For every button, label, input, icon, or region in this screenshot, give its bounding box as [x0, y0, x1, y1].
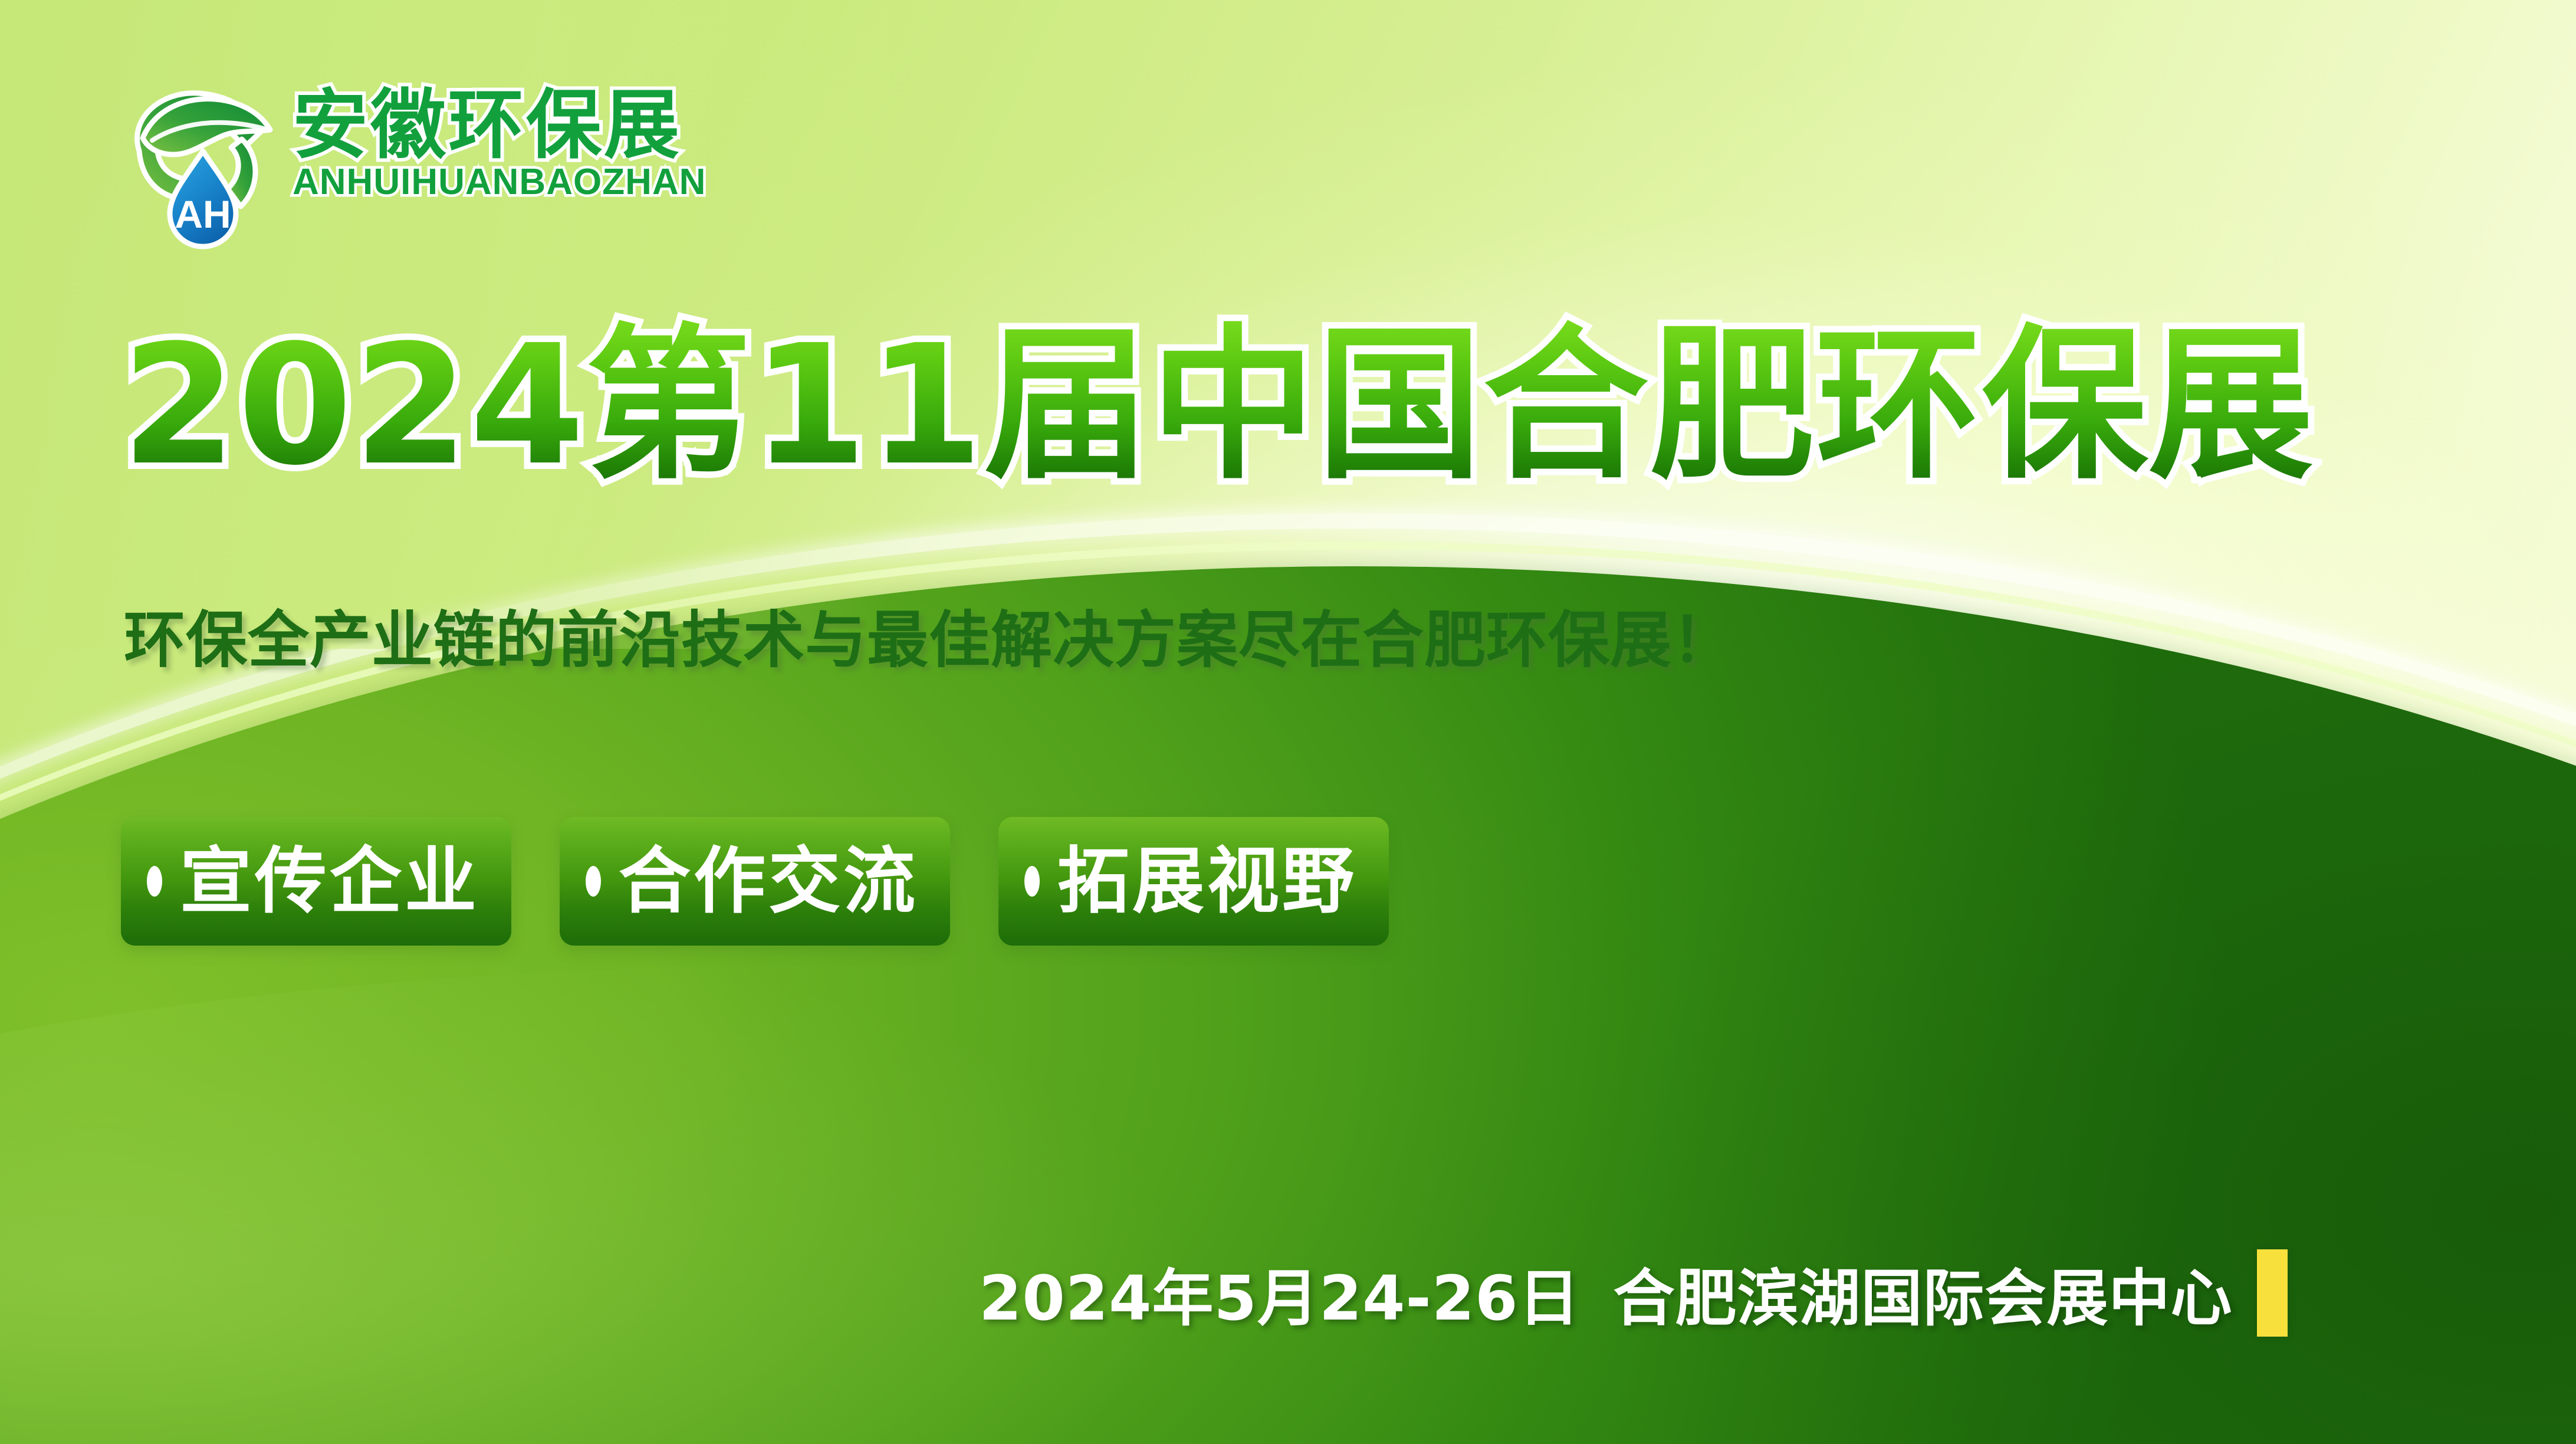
logo-chinese-name: 安徽环保展 — [293, 87, 646, 165]
tag-expand-vision[interactable]: 拓展视野 — [998, 817, 1389, 946]
main-title-text: 2024第11届中国合肥环保展 — [121, 310, 2315, 502]
event-venue: 合肥滨湖国际会展中心 — [1613, 1248, 2232, 1337]
event-date: 2024年5月24-26日 — [979, 1248, 1580, 1337]
tag-promote-enterprise[interactable]: 宣传企业 — [121, 817, 511, 946]
exhibition-banner: AH 安徽环保展 ANHUIHUANBAOZHAN 2024第11届中国合肥环保… — [0, 0, 2576, 1444]
brand-logo[interactable]: AH 安徽环保展 ANHUIHUANBAOZHAN — [116, 81, 587, 258]
subtitle-text: 环保全产业链的前沿技术与最佳解决方案尽在合肥环保展！ — [124, 590, 1734, 679]
highlight-tag-list: 宣传企业 合作交流 拓展视野 — [121, 817, 1389, 946]
tag-label: 拓展视野 — [1057, 845, 1357, 917]
logo-wordmark: 安徽环保展 ANHUIHUANBAOZHAN — [293, 87, 646, 203]
logo-pinyin-name: ANHUIHUANBAOZHAN — [293, 161, 646, 203]
yellow-accent-bar — [2257, 1249, 2288, 1337]
svg-text:AH: AH — [175, 192, 231, 236]
bullet-dot-icon — [1024, 866, 1040, 897]
tag-label: 宣传企业 — [180, 845, 479, 917]
main-title: 2024第11届中国合肥环保展 2024第11届中国合肥环保展 — [121, 323, 2315, 488]
bullet-dot-icon — [586, 866, 601, 897]
leaf-waterdrop-icon: AH — [116, 81, 293, 252]
event-footer: 2024年5月24-26日 合肥滨湖国际会展中心 — [979, 1248, 2288, 1337]
tag-cooperation-exchange[interactable]: 合作交流 — [560, 817, 950, 946]
tag-label: 合作交流 — [619, 845, 918, 917]
bullet-dot-icon — [147, 866, 162, 897]
